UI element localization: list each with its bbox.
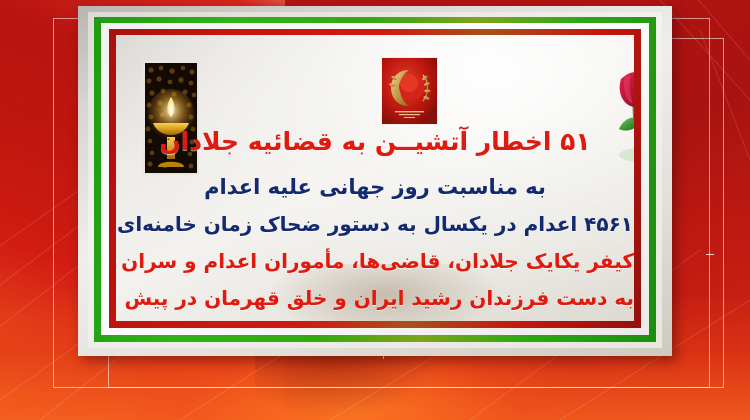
poster-frame-red-band: ۱۵ اخطار آتشیــن به قضائیه جلادان به منا… [109,29,641,328]
poster-subheadline: به مناسبت روز جهانی علیه اعدام [116,173,634,202]
poster-frame-silver: ۱۵ اخطار آتشیــن به قضائیه جلادان به منا… [88,12,662,348]
organization-emblem-icon [381,57,438,125]
poster-stat-line: ۱۶۵۴ اعدام در یکسال به دستور ضحاک زمان خ… [116,210,634,238]
poster-headline: ۱۵ اخطار آتشیــن به قضائیه جلادان [116,125,634,159]
poster-frame-white-band: ۱۵ اخطار آتشیــن به قضائیه جلادان به منا… [101,23,649,335]
decorative-tick-right [706,254,714,255]
poster-text-block: ۱۵ اخطار آتشیــن به قضائیه جلادان به منا… [116,125,634,312]
poster-canvas: ۱۵ اخطار آتشیــن به قضائیه جلادان به منا… [0,0,750,420]
poster-frame-outer: ۱۵ اخطار آتشیــن به قضائیه جلادان به منا… [78,6,672,356]
poster-content-panel: ۱۵ اخطار آتشیــن به قضائیه جلادان به منا… [116,35,634,321]
poster-line-five: به دست فرزندان رشید ایران و خلق قهرمان د… [116,284,634,312]
poster-frame-green-band: ۱۵ اخطار آتشیــن به قضائیه جلادان به منا… [94,17,656,342]
poster-line-four: کیفر یکایک جلادان، قاضی‌ها، مأموران اعدا… [116,247,634,275]
